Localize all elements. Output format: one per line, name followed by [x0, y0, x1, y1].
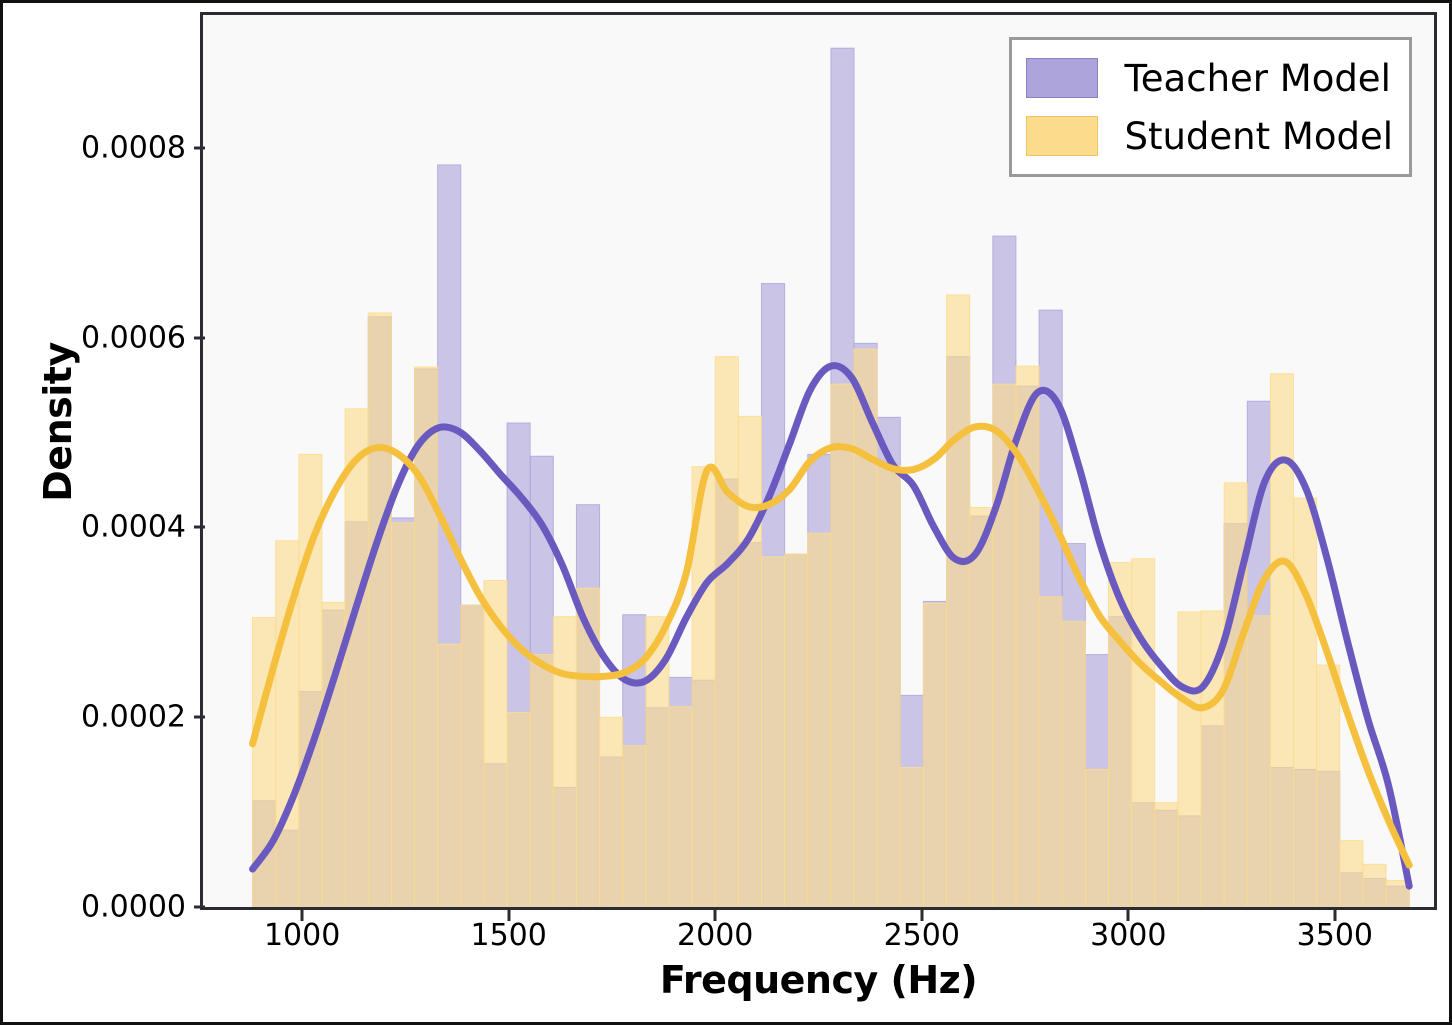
x-tick-mark — [714, 910, 717, 921]
y-tick-mark — [194, 336, 205, 339]
y-tick-mark — [194, 716, 205, 719]
x-tick-label: 3500 — [1297, 918, 1373, 953]
figure-root: 0.00000.00020.00040.00060.0008 100015002… — [0, 0, 1452, 1025]
x-tick-mark — [920, 910, 923, 921]
x-tick-label: 3000 — [1090, 918, 1166, 953]
legend-item-teacher-model[interactable]: Teacher Model — [1026, 49, 1393, 107]
x-tick-mark — [1127, 910, 1130, 921]
kde-curve-student-model — [253, 426, 1410, 865]
x-tick-label: 1500 — [470, 918, 546, 953]
legend-label-teacher: Teacher Model — [1124, 57, 1390, 100]
legend-swatch-student-icon — [1026, 116, 1098, 156]
x-tick-mark — [507, 910, 510, 921]
x-tick-label: 2500 — [884, 918, 960, 953]
legend-item-student-model[interactable]: Student Model — [1026, 107, 1393, 165]
x-axis-title: Frequency (Hz) — [200, 958, 1437, 1002]
legend-label-student: Student Model — [1124, 115, 1393, 158]
plot-area: Teacher Model Student Model — [200, 12, 1437, 910]
kde-curve-teacher-model — [253, 366, 1410, 887]
x-tick-mark — [301, 910, 304, 921]
x-tick-label: 1000 — [264, 918, 340, 953]
x-tick-mark — [1333, 910, 1336, 921]
legend-swatch-teacher-icon — [1026, 58, 1098, 98]
y-axis-title: Density — [36, 302, 80, 542]
y-tick-mark — [194, 906, 205, 909]
y-tick-mark — [194, 146, 205, 149]
y-tick-mark — [194, 526, 205, 529]
x-tick-label: 2000 — [677, 918, 753, 953]
chart-legend[interactable]: Teacher Model Student Model — [1009, 37, 1412, 177]
